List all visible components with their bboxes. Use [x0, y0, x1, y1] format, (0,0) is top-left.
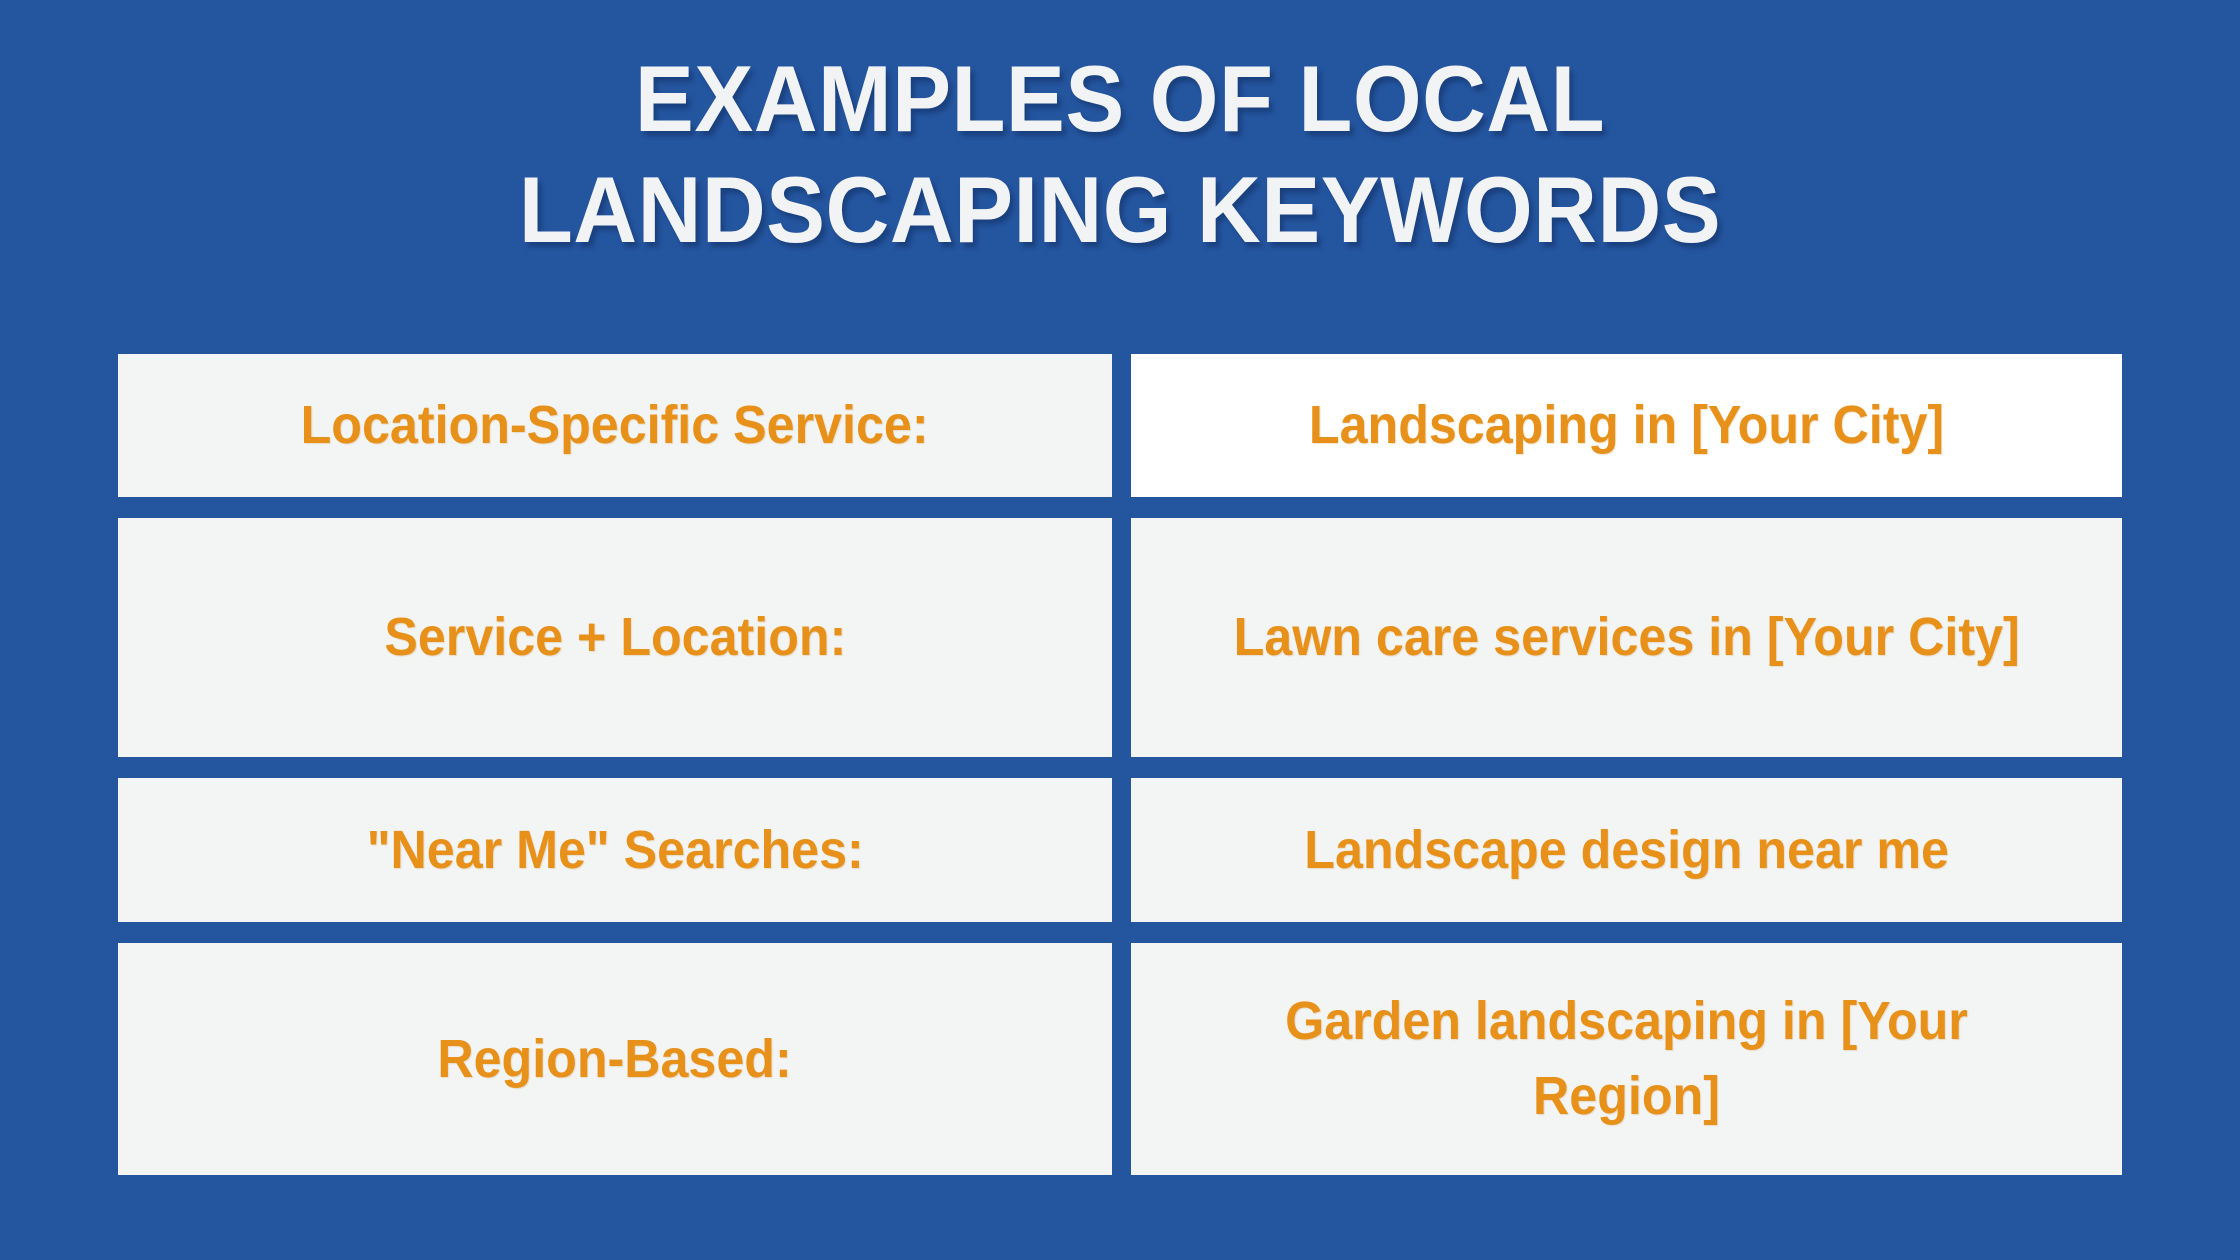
- keyword-category-cell: Service + Location:: [118, 518, 1112, 757]
- keyword-example-cell: Garden landscaping in [Your Region]: [1131, 943, 2122, 1175]
- keyword-category-label: Service + Location:: [384, 600, 846, 675]
- keyword-example-cell: Lawn care services in [Your City]: [1131, 518, 2122, 757]
- table-row: Location-Specific Service: Landscaping i…: [118, 354, 2122, 497]
- keyword-table: Location-Specific Service: Landscaping i…: [118, 354, 2122, 1175]
- table-row: "Near Me" Searches: Landscape design nea…: [118, 778, 2122, 922]
- keyword-category-label: "Near Me" Searches:: [366, 813, 863, 888]
- keyword-category-label: Region-Based:: [438, 1022, 792, 1097]
- keyword-category-label: Location-Specific Service:: [301, 388, 929, 463]
- keyword-example-label: Lawn care services in [Your City]: [1233, 600, 2019, 675]
- keyword-example-label: Garden landscaping in [Your Region]: [1190, 984, 2063, 1133]
- keyword-example-label: Landscaping in [Your City]: [1309, 388, 1944, 463]
- keyword-category-cell: "Near Me" Searches:: [118, 778, 1112, 922]
- title-line-1: EXAMPLES OF LOCAL: [67, 44, 2173, 155]
- table-row: Region-Based: Garden landscaping in [You…: [118, 943, 2122, 1175]
- page-title: EXAMPLES OF LOCAL LANDSCAPING KEYWORDS: [0, 44, 2240, 266]
- keyword-category-cell: Location-Specific Service:: [118, 354, 1112, 497]
- slide-canvas: EXAMPLES OF LOCAL LANDSCAPING KEYWORDS L…: [0, 0, 2240, 1260]
- keyword-example-label: Landscape design near me: [1304, 813, 1949, 888]
- title-line-2: LANDSCAPING KEYWORDS: [67, 155, 2173, 266]
- table-row: Service + Location: Lawn care services i…: [118, 518, 2122, 757]
- keyword-example-cell: Landscape design near me: [1131, 778, 2122, 922]
- keyword-example-cell: Landscaping in [Your City]: [1131, 354, 2122, 497]
- keyword-category-cell: Region-Based:: [118, 943, 1112, 1175]
